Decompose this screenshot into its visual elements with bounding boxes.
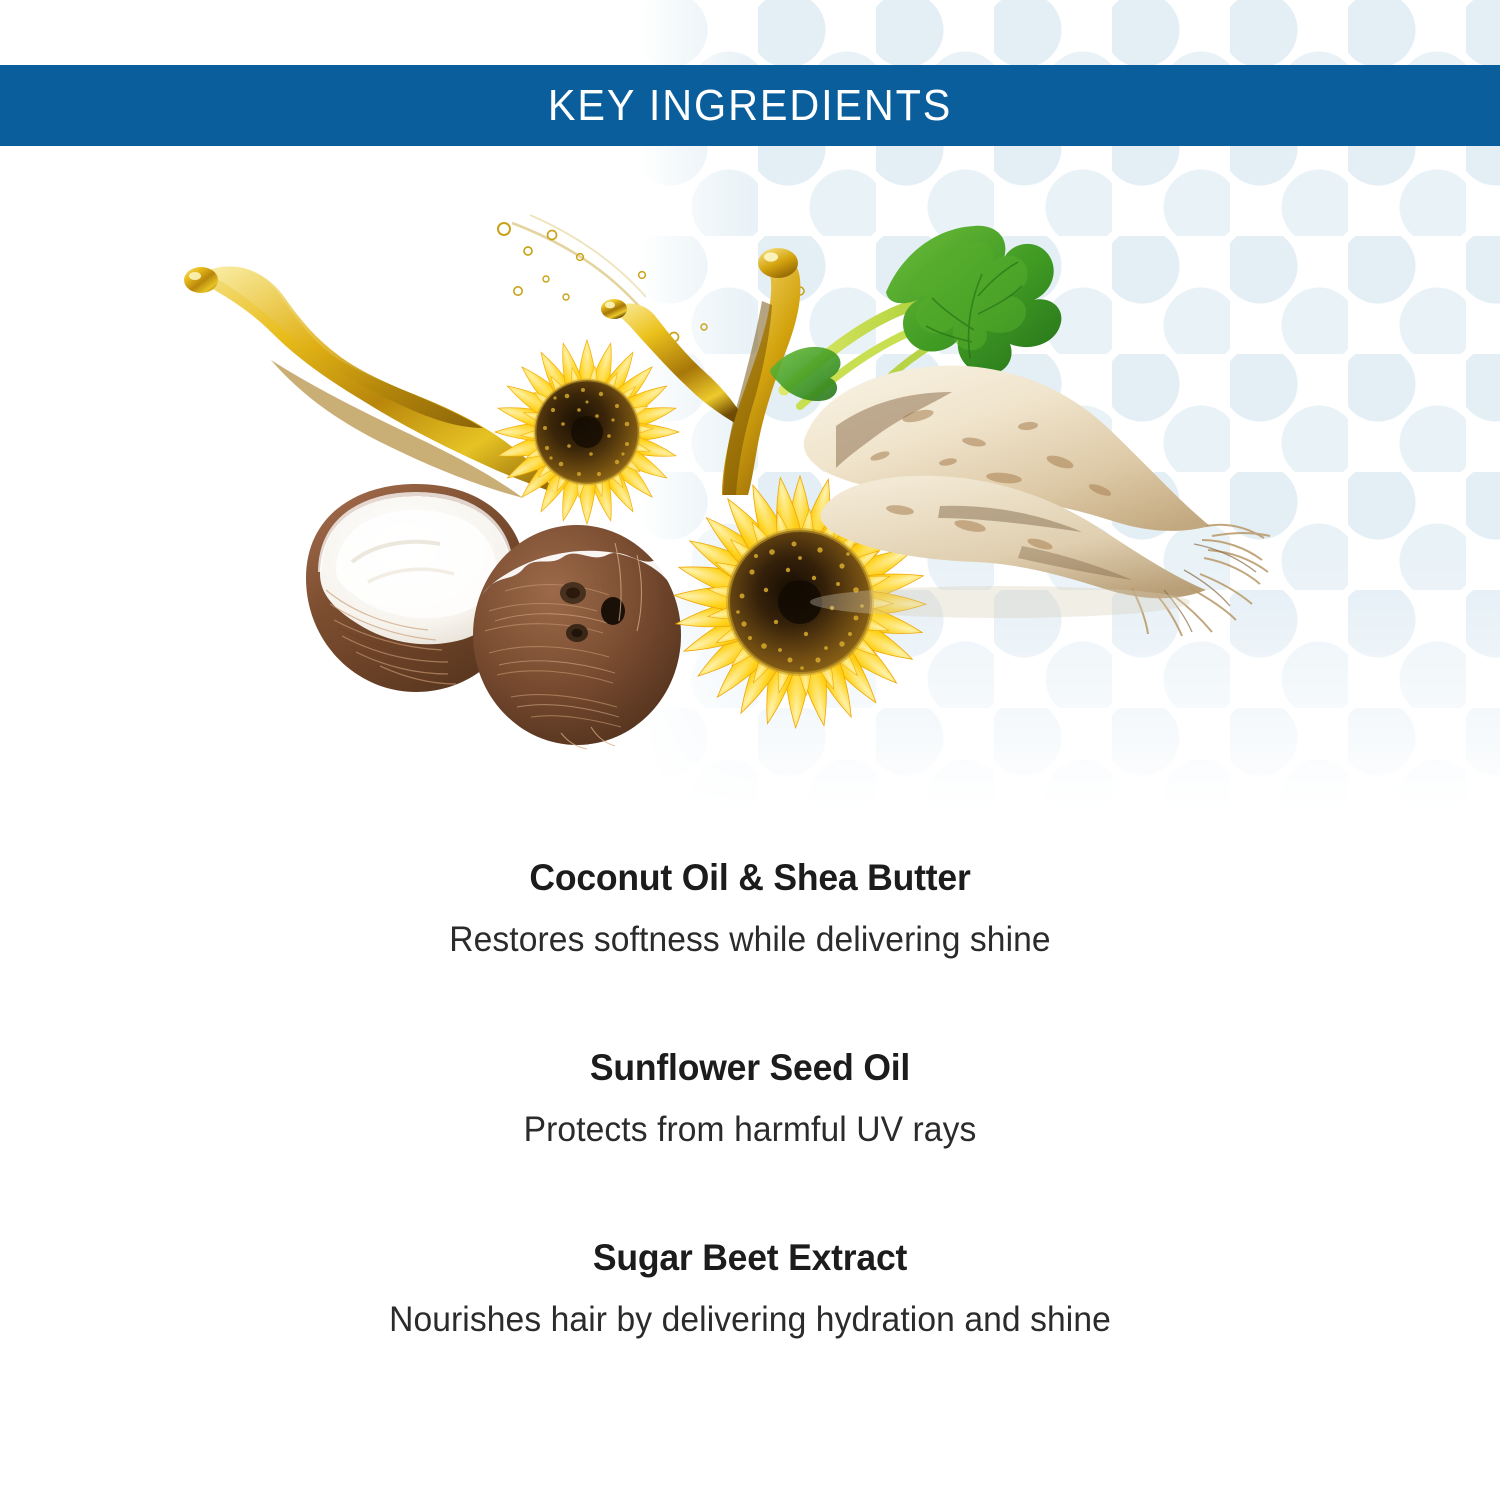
ingredient-item: Sugar Beet Extract Nourishes hair by del… [0,1235,1500,1343]
ingredient-name: Coconut Oil & Shea Butter [30,855,1470,901]
ingredient-item: Sunflower Seed Oil Protects from harmful… [0,1045,1500,1153]
ingredient-description: Nourishes hair by delivering hydration a… [30,1297,1470,1343]
ingredient-name: Sugar Beet Extract [30,1235,1470,1281]
banner-title: KEY INGREDIENTS [548,84,952,128]
key-ingredients-infographic: KEY INGREDIENTS [0,0,1500,1500]
ingredient-name: Sunflower Seed Oil [30,1045,1470,1091]
sugar-beet-icon [760,210,1280,680]
ingredient-description: Protects from harmful UV rays [30,1107,1470,1153]
ingredients-list: Coconut Oil & Shea Butter Restores softn… [0,855,1500,1342]
key-ingredients-banner: KEY INGREDIENTS [0,65,1500,146]
ingredient-item: Coconut Oil & Shea Butter Restores softn… [0,855,1500,963]
ingredient-description: Restores softness while delivering shine [30,917,1470,963]
ingredients-hero-image [0,150,1500,830]
